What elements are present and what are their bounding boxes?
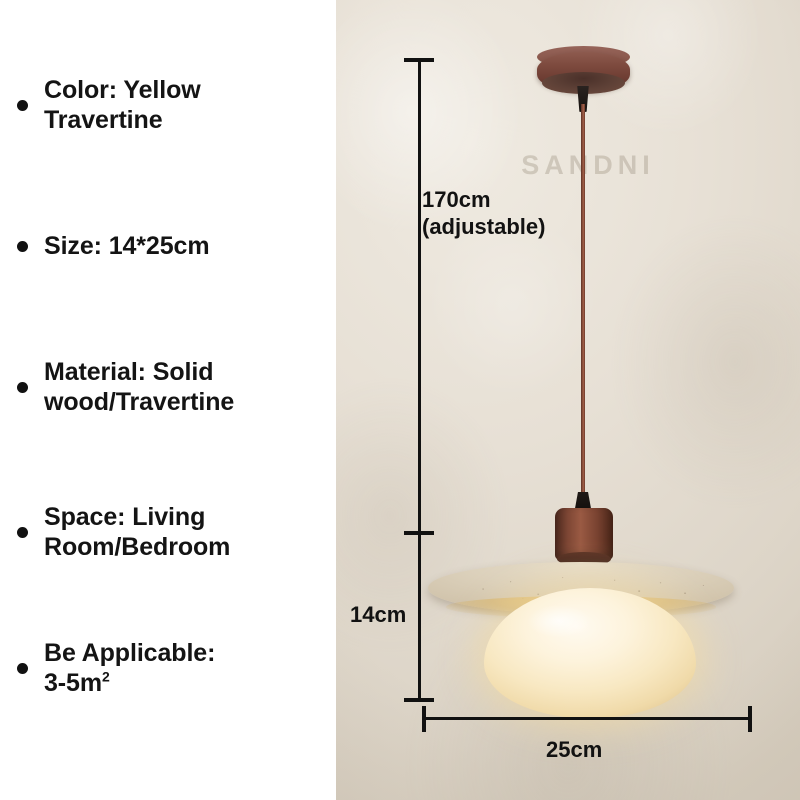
- dimension-label-shade-height: 14cm: [350, 601, 406, 628]
- spec-item-color: Color: YellowTravertine: [0, 76, 336, 136]
- dimension-height-value: 170cm: [422, 187, 491, 212]
- spec-item-material: Material: Solidwood/Travertine: [0, 358, 336, 418]
- bullet-icon: [0, 527, 44, 538]
- dimension-height-note: (adjustable): [422, 214, 545, 239]
- spec-item-label: Color: YellowTravertine: [44, 76, 336, 136]
- pendant-lamp: [336, 0, 800, 800]
- bullet-icon: [0, 241, 44, 252]
- dimension-label-shade-width: 25cm: [546, 736, 602, 763]
- dimension-line-shade-height: [418, 534, 421, 701]
- spec-item-label: Material: Solidwood/Travertine: [44, 358, 336, 418]
- dimension-line-height: [418, 60, 421, 534]
- spec-item-space: Space: LivingRoom/Bedroom: [0, 503, 336, 563]
- dimension-line-shade-width: [422, 717, 752, 720]
- dimension-tick-bottom: [404, 698, 434, 702]
- globe-highlight: [522, 604, 596, 642]
- spec-item-label: Be Applicable:3-5m2: [44, 639, 336, 699]
- specification-panel: Color: YellowTravertine Size: 14*25cm Ma…: [0, 0, 336, 800]
- spec-item-label: Size: 14*25cm: [44, 232, 336, 262]
- spec-item-size: Size: 14*25cm: [0, 232, 336, 262]
- bullet-icon: [0, 100, 44, 111]
- product-photo: SANDNI 170cm (adjustable): [336, 0, 800, 800]
- bullet-icon: [0, 663, 44, 674]
- dimension-tick-right: [748, 706, 752, 732]
- dimension-label-height: 170cm (adjustable): [422, 186, 545, 241]
- spec-item-label: Space: LivingRoom/Bedroom: [44, 503, 336, 563]
- bullet-icon: [0, 382, 44, 393]
- spec-item-applicable-area: Be Applicable:3-5m2: [0, 639, 336, 699]
- hanging-cord: [581, 104, 585, 496]
- product-spec-image: Color: YellowTravertine Size: 14*25cm Ma…: [0, 0, 800, 800]
